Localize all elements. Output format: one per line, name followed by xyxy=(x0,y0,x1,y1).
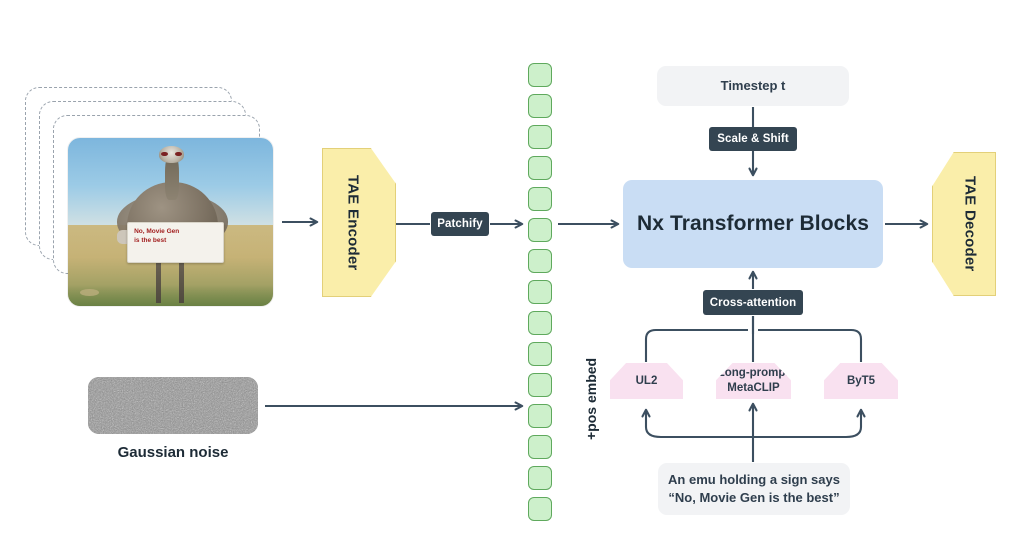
latent-token xyxy=(528,187,552,211)
latent-token xyxy=(528,497,552,521)
latent-token xyxy=(528,311,552,335)
text-encoder-long-prompt-metaclip: Long-prompt MetaCLIP xyxy=(716,363,791,399)
latent-token xyxy=(528,63,552,87)
emu-eye-left xyxy=(161,152,168,156)
latent-token xyxy=(528,466,552,490)
diagram-canvas: No, Movie Gen is the best Gaussian noise… xyxy=(0,0,1024,545)
emu-leg-left xyxy=(156,259,161,303)
photo-grass xyxy=(80,289,98,296)
tae-encoder-label-line2: Encoder xyxy=(345,209,362,270)
prompt-line2: “No, Movie Gen is the best” xyxy=(668,489,840,507)
tae-decoder-block: TAE Decoder xyxy=(932,152,996,296)
text-encoder-metaclip-label: Long-prompt MetaCLIP xyxy=(718,366,790,396)
prompt-line1: An emu holding a sign says xyxy=(668,471,840,489)
cross-attention-chip: Cross-attention xyxy=(703,290,803,315)
tae-decoder-label: TAE Decoder xyxy=(939,153,1001,295)
latent-token xyxy=(528,435,552,459)
gaussian-noise-patch xyxy=(88,377,258,434)
latent-token xyxy=(528,249,552,273)
prompt-box: An emu holding a sign says “No, Movie Ge… xyxy=(658,463,850,515)
gaussian-noise-label: Gaussian noise xyxy=(68,444,278,461)
latent-token xyxy=(528,94,552,118)
emu-sign-text: No, Movie Gen is the best xyxy=(134,228,219,246)
tae-encoder-block: TAE Encoder xyxy=(322,148,396,297)
text-encoder-byt5-label: ByT5 xyxy=(847,374,875,389)
wire-ul2-to-crossattention xyxy=(646,330,748,362)
tae-encoder-label-line1: TAE xyxy=(345,175,362,205)
latent-token xyxy=(528,342,552,366)
emu-leg-right xyxy=(179,259,184,303)
wire-prompt-to-byt5 xyxy=(753,410,861,437)
text-encoder-metaclip-line1: Long-prompt xyxy=(718,367,790,379)
text-encoder-byt5: ByT5 xyxy=(824,363,898,399)
emu-sign-text-line1: No, Movie Gen xyxy=(134,228,219,237)
emu-sign: No, Movie Gen is the best xyxy=(127,222,223,263)
noise-texture xyxy=(88,377,258,434)
patchify-chip: Patchify xyxy=(431,212,489,236)
emu-sign-text-line2: is the best xyxy=(134,237,219,246)
latent-token xyxy=(528,280,552,304)
latent-token xyxy=(528,373,552,397)
emu-eye-right xyxy=(175,152,182,156)
latent-token xyxy=(528,156,552,180)
timestep-box: Timestep t xyxy=(657,66,849,106)
text-encoder-ul2-label: UL2 xyxy=(636,374,658,389)
transformer-blocks: Nx Transformer Blocks xyxy=(623,180,883,268)
wire-byt5-to-crossattention xyxy=(758,330,861,362)
emu-photo: No, Movie Gen is the best xyxy=(68,138,273,306)
tae-encoder-label: TAE Encoder xyxy=(317,149,389,296)
wire-prompt-to-ul2 xyxy=(646,410,753,437)
scale-shift-chip: Scale & Shift xyxy=(709,127,797,151)
text-encoder-ul2: UL2 xyxy=(610,363,683,399)
tae-decoder-label-line1: TAE xyxy=(962,176,979,206)
latent-token xyxy=(528,125,552,149)
latent-token xyxy=(528,218,552,242)
prompt-text: An emu holding a sign says “No, Movie Ge… xyxy=(668,471,840,506)
text-encoder-metaclip-line2: MetaCLIP xyxy=(727,382,779,394)
latent-token xyxy=(528,404,552,428)
pos-embed-label: +pos embed xyxy=(583,330,599,440)
tae-decoder-label-line2: Decoder xyxy=(962,210,979,271)
